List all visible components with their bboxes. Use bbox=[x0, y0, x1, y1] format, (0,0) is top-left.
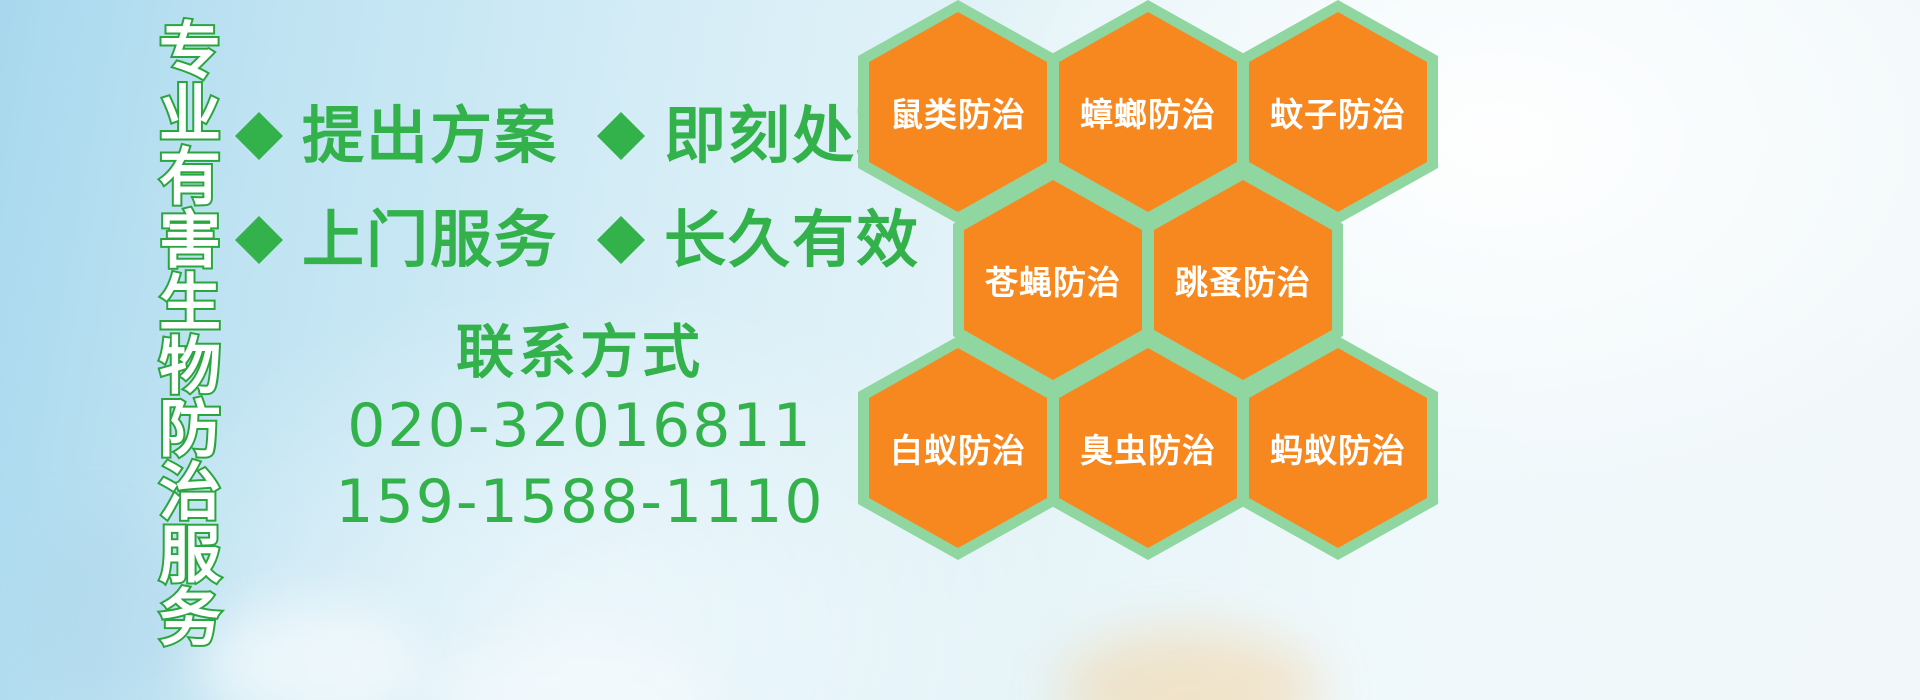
diamond-icon bbox=[594, 109, 648, 163]
hex-cell-service[interactable]: 蚂蚁防治 bbox=[1238, 336, 1438, 560]
background-blur-blob bbox=[200, 600, 420, 700]
feature-list: 提出方案 即刻处理 上门服务 bbox=[232, 84, 872, 292]
phone-number-mobile[interactable]: 159-1588-1110 bbox=[300, 464, 860, 541]
hex-cell-service[interactable]: 白蚁防治 bbox=[858, 336, 1058, 560]
hex-label: 白蚁防治 bbox=[890, 424, 1026, 472]
phone-number-landline[interactable]: 020-32016811 bbox=[300, 388, 860, 465]
diamond-icon bbox=[232, 109, 286, 163]
background-blur-blob bbox=[1060, 630, 1320, 700]
feature-row: 提出方案 即刻处理 bbox=[232, 84, 872, 188]
hex-label: 苍蝇防治 bbox=[985, 256, 1121, 304]
contact-block: 联系方式 020-32016811 159-1588-1110 bbox=[300, 318, 860, 541]
hex-label: 鼠类防治 bbox=[890, 88, 1026, 136]
feature-label: 提出方案 bbox=[302, 105, 558, 167]
hex-label: 蚊子防治 bbox=[1270, 88, 1406, 136]
contact-title: 联系方式 bbox=[300, 318, 860, 388]
background-blur-blob bbox=[420, 640, 720, 700]
service-hexagon-grid: 鼠类防治 蟑螂防治 蚊子防治 苍蝇防治 跳蚤防治 bbox=[858, 0, 1498, 560]
promotional-banner: 专业有害生物防治服务 提出方案 即刻处理 bbox=[0, 0, 1920, 700]
hex-label: 蟑螂防治 bbox=[1080, 88, 1216, 136]
feature-item: 提出方案 bbox=[232, 105, 558, 167]
hex-label: 蚂蚁防治 bbox=[1270, 424, 1406, 472]
feature-row: 上门服务 长久有效 bbox=[232, 188, 872, 292]
vertical-slogan: 专业有害生物防治服务 bbox=[112, 18, 216, 578]
feature-item: 上门服务 bbox=[232, 209, 558, 271]
hex-cell-service[interactable]: 臭虫防治 bbox=[1048, 336, 1248, 560]
diamond-icon bbox=[232, 213, 286, 267]
hex-label: 跳蚤防治 bbox=[1175, 256, 1311, 304]
feature-label: 上门服务 bbox=[302, 209, 558, 271]
diamond-icon bbox=[594, 213, 648, 267]
hex-label: 臭虫防治 bbox=[1080, 424, 1216, 472]
